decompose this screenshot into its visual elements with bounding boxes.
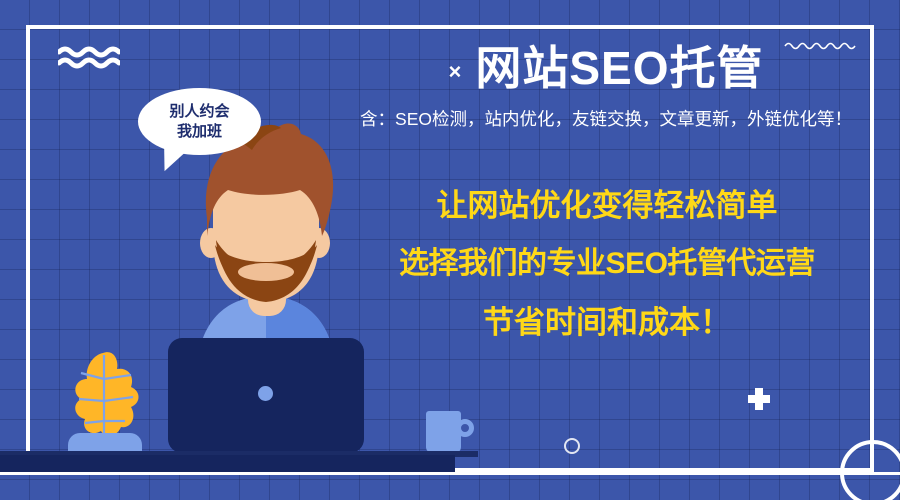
speech-bubble: 别人约会 我加班 (138, 88, 261, 155)
headline-block: × 网站SEO托管 含：SEO检测，站内优化，友链交换，文章更新，外链优化等！ (340, 44, 872, 131)
potted-plant-icon (55, 345, 155, 465)
page-subtitle: 含：SEO检测，站内优化，友链交换，文章更新，外链优化等！ (340, 106, 872, 131)
seo-promo-banner: 别人约会 我加班 × 网站SEO托管 含：SEO检测，站内优化，友链交换，文章更… (0, 0, 900, 500)
slogan-line-1: 让网站优化变得轻松简单 (340, 190, 874, 221)
desk-edge-line (0, 472, 900, 475)
slogan-block: 让网站优化变得轻松简单 选择我们的专业SEO托管代运营 节省时间和成本！ (340, 190, 874, 338)
slogan-line-3: 节省时间和成本！ (340, 307, 874, 338)
page-title: 网站SEO托管 (475, 44, 763, 92)
bullet-x-icon: × (448, 61, 461, 83)
speech-bubble-line-2: 我加班 (177, 122, 222, 141)
title-row: × 网站SEO托管 (340, 44, 872, 92)
desk-front (0, 455, 455, 473)
coffee-mug-icon (426, 411, 461, 453)
slogan-line-2: 选择我们的专业SEO托管代运营 (340, 249, 874, 279)
coffee-mug-handle-icon (456, 419, 474, 437)
laptop-logo-icon (258, 386, 273, 401)
speech-bubble-line-1: 别人约会 (169, 102, 229, 121)
